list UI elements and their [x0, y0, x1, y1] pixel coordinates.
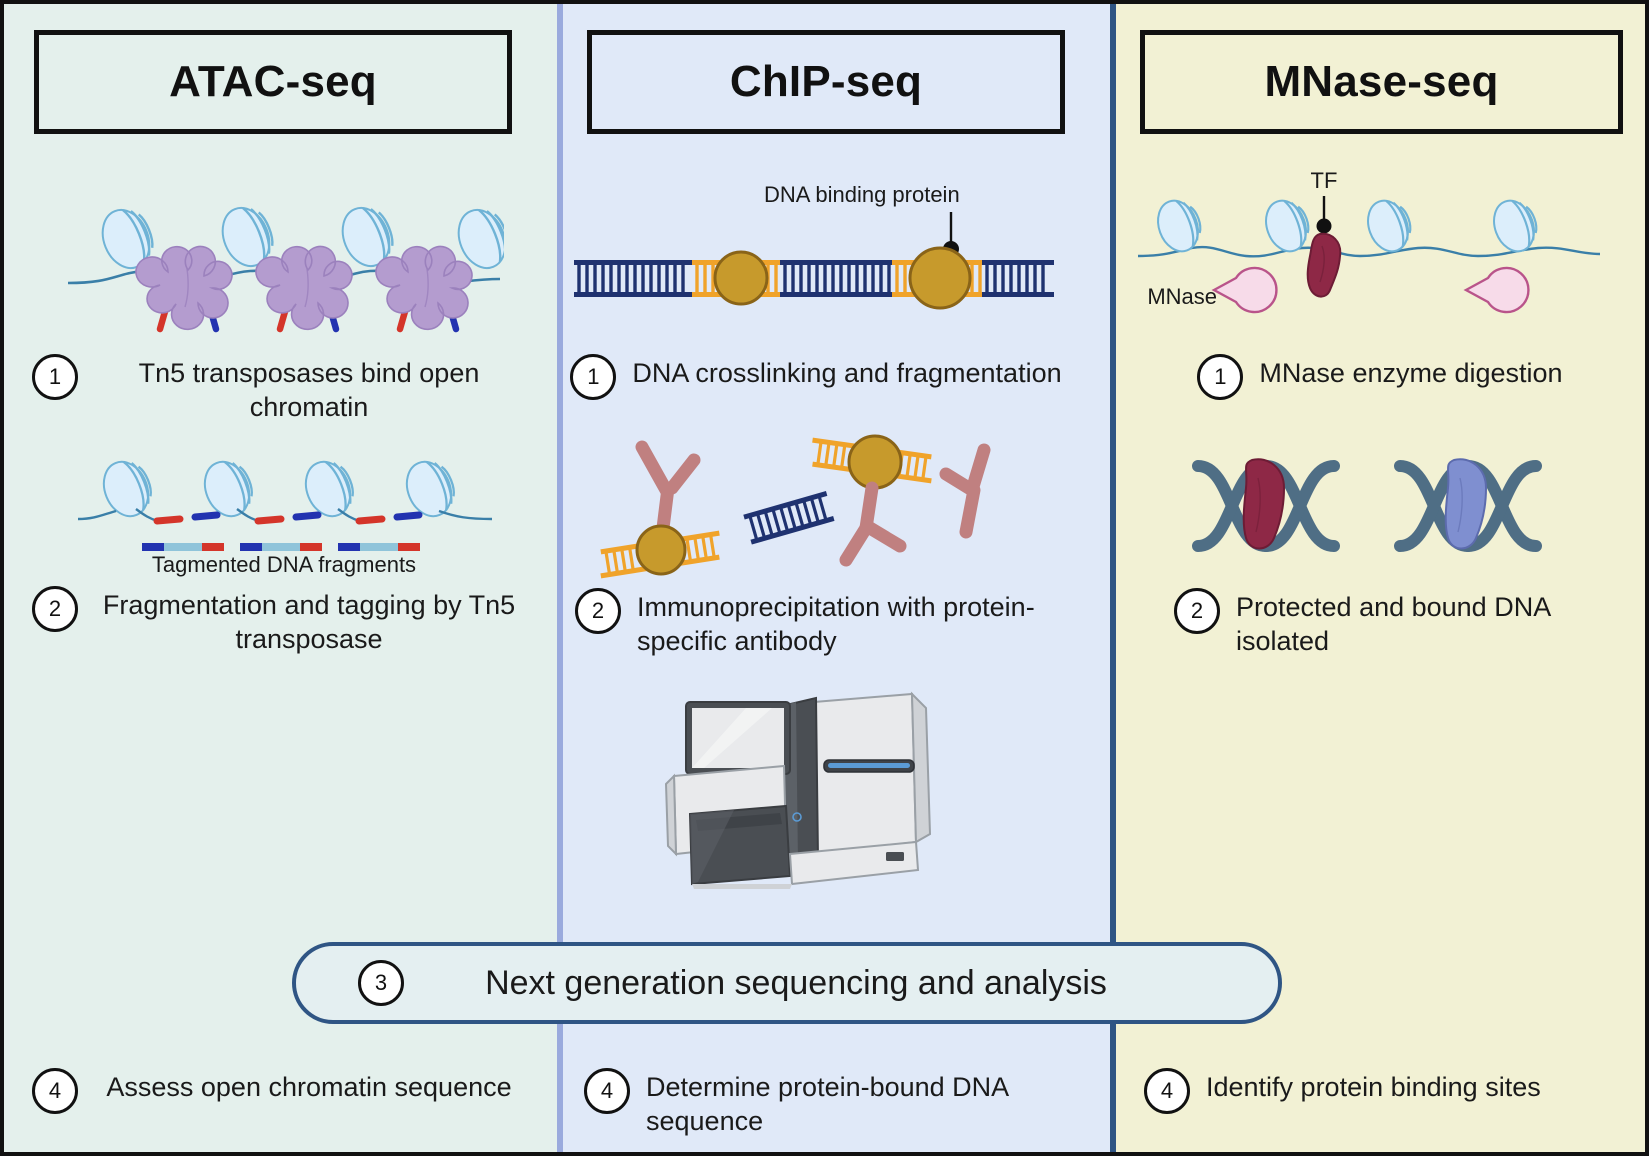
column-title-atac-seq: ATAC-seq: [169, 57, 377, 107]
step-atac-1: 1 Tn5 transposases bind open chromatin: [32, 352, 532, 424]
step-atac-4: 4 Assess open chromatin sequence: [32, 1066, 532, 1114]
step-atac-1-label: Tn5 transposases bind open chromatin: [94, 352, 524, 424]
step-number-badge: 4: [32, 1068, 78, 1114]
step-mnase-1: 1 MNase enzyme digestion: [1110, 352, 1649, 400]
step-atac-2-label: Fragmentation and tagging by Tn5 transpo…: [94, 584, 524, 656]
sequencer-machine-illustration: [664, 684, 944, 894]
step-mnase-4-label: Identify protein binding sites: [1206, 1066, 1541, 1104]
step-number-badge: 1: [1197, 354, 1243, 400]
nucleosomes-with-tn5-illustration: [64, 199, 504, 339]
step-number-badge: 2: [575, 588, 621, 634]
step-atac-2: 2 Fragmentation and tagging by Tn5 trans…: [32, 584, 532, 656]
step-number-badge: 1: [570, 354, 616, 400]
step-chip-4-label: Determine protein-bound DNA sequence: [646, 1066, 1066, 1138]
step-number-badge: 3: [358, 960, 404, 1006]
banner-label: Next generation sequencing and analysis: [404, 964, 1278, 1003]
step-mnase-4: 4 Identify protein binding sites: [1144, 1066, 1644, 1114]
step-mnase-1-label: MNase enzyme digestion: [1259, 352, 1562, 390]
dna-ladder-with-bound-proteins-illustration: [574, 204, 1054, 314]
step-chip-1: 1 DNA crosslinking and fragmentation: [556, 352, 1076, 400]
title-box-chip-seq: ChIP-seq: [587, 30, 1065, 134]
step-chip-2: 2 Immunoprecipitation with protein-speci…: [556, 586, 1076, 658]
banner-next-generation-sequencing: 3 Next generation sequencing and analysi…: [292, 942, 1282, 1024]
step-chip-2-label: Immunoprecipitation with protein-specifi…: [637, 586, 1057, 658]
antibodies-with-dna-illustration: [594, 432, 1034, 582]
step-number-badge: 2: [32, 586, 78, 632]
figure-canvas: ATAC-seq ChIP-seq MNase-seq: [0, 0, 1649, 1156]
column-title-chip-seq: ChIP-seq: [730, 57, 922, 107]
step-number-badge: 4: [1144, 1068, 1190, 1114]
step-chip-4: 4 Determine protein-bound DNA sequence: [584, 1066, 1084, 1138]
caption-mnase: MNase: [1097, 284, 1217, 310]
step-number-badge: 2: [1174, 588, 1220, 634]
double-helix-with-bound-proteins-illustration: [1184, 444, 1584, 574]
caption-tagmented-dna-fragments: Tagmented DNA fragments: [64, 552, 504, 578]
step-mnase-2-label: Protected and bound DNA isolated: [1236, 586, 1586, 658]
step-chip-1-label: DNA crosslinking and fragmentation: [632, 352, 1061, 390]
title-box-atac-seq: ATAC-seq: [34, 30, 512, 134]
caption-tf: TF: [1234, 168, 1414, 194]
title-box-mnase-seq: MNase-seq: [1140, 30, 1623, 134]
step-number-badge: 4: [584, 1068, 630, 1114]
column-title-mnase-seq: MNase-seq: [1264, 57, 1498, 107]
step-number-badge: 1: [32, 354, 78, 400]
step-mnase-2: 2 Protected and bound DNA isolated: [1110, 586, 1649, 658]
step-atac-4-label: Assess open chromatin sequence: [94, 1066, 524, 1104]
